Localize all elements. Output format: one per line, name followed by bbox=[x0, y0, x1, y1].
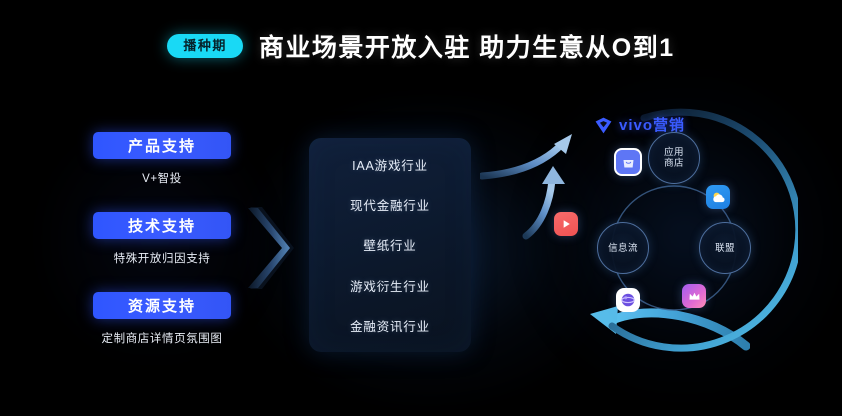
industry-item[interactable]: 壁纸行业 bbox=[363, 235, 416, 254]
node-label: 信息流 bbox=[608, 243, 638, 254]
theme-app-icon[interactable] bbox=[682, 284, 706, 308]
industry-item[interactable]: IAA游戏行业 bbox=[352, 155, 428, 174]
globe-glyph bbox=[619, 291, 637, 309]
industry-item[interactable]: 现代金融行业 bbox=[350, 195, 430, 214]
crown-glyph bbox=[687, 289, 702, 304]
shopping-bag-glyph bbox=[621, 155, 636, 170]
support-pill-technical[interactable]: 技术支持 bbox=[93, 212, 231, 239]
node-label: 联盟 bbox=[715, 243, 735, 254]
vivo-wordmark: vivo营销 bbox=[619, 118, 685, 133]
stage-badge: 播种期 bbox=[167, 34, 243, 58]
vivo-diamond-icon bbox=[594, 116, 613, 135]
support-caption-resource: 定制商店详情页氛围图 bbox=[102, 330, 223, 346]
support-list: 产品支持 V+智投 技术支持 特殊开放归因支持 资源支持 定制商店详情页氛围图 bbox=[62, 132, 262, 346]
play-triangle-glyph bbox=[559, 217, 573, 231]
ecosystem-diagram: vivo营销 应用 商店 信息流 联盟 bbox=[548, 104, 798, 354]
video-app-icon[interactable] bbox=[554, 212, 578, 236]
support-item-product: 产品支持 V+智投 bbox=[62, 132, 262, 186]
support-item-resource: 资源支持 定制商店详情页氛围图 bbox=[62, 292, 262, 346]
browser-app-icon[interactable] bbox=[616, 288, 640, 312]
ecosystem-node-app-store[interactable]: 应用 商店 bbox=[648, 132, 700, 184]
node-label: 应用 商店 bbox=[664, 147, 684, 169]
chevron-right-icon bbox=[246, 205, 294, 291]
industry-panel: IAA游戏行业 现代金融行业 壁纸行业 游戏衍生行业 金融资讯行业 bbox=[309, 138, 471, 352]
sun-cloud-glyph bbox=[710, 189, 727, 206]
support-pill-resource[interactable]: 资源支持 bbox=[93, 292, 231, 319]
store-app-icon[interactable] bbox=[614, 148, 642, 176]
weather-app-icon[interactable] bbox=[706, 185, 730, 209]
industry-item[interactable]: 金融资讯行业 bbox=[350, 316, 430, 335]
support-caption-technical: 特殊开放归因支持 bbox=[114, 250, 211, 266]
slide-canvas: 播种期 商业场景开放入驻 助力生意从O到1 产品支持 V+智投 技术支持 特殊开… bbox=[0, 0, 842, 416]
support-pill-product[interactable]: 产品支持 bbox=[93, 132, 231, 159]
ecosystem-node-union[interactable]: 联盟 bbox=[699, 222, 751, 274]
page-title: 商业场景开放入驻 助力生意从O到1 bbox=[259, 28, 675, 64]
ecosystem-node-information-feed[interactable]: 信息流 bbox=[597, 222, 649, 274]
support-item-technical: 技术支持 特殊开放归因支持 bbox=[62, 212, 262, 266]
support-caption-product: V+智投 bbox=[142, 170, 182, 186]
slide-header: 播种期 商业场景开放入驻 助力生意从O到1 bbox=[0, 28, 842, 64]
industry-item[interactable]: 游戏衍生行业 bbox=[350, 276, 430, 295]
